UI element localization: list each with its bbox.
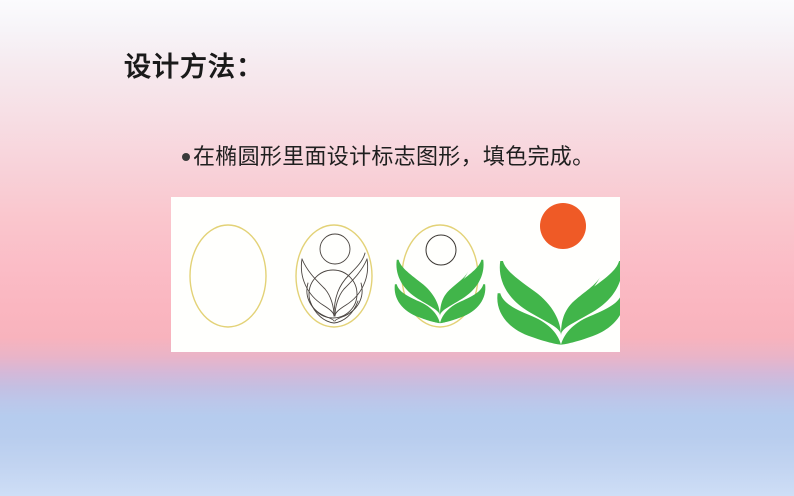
step2-construction-lines	[301, 234, 367, 323]
step1-ellipse-outline	[190, 225, 266, 327]
step3-green-mark	[395, 260, 486, 323]
step4-sun-circle	[540, 203, 586, 249]
illustration-stage	[171, 197, 620, 352]
bullet-dot-icon	[182, 153, 190, 161]
illustration-step-1	[190, 225, 266, 327]
step4-green-mark	[497, 261, 620, 345]
bullet-item-label: 在椭圆形里面设计标志图形，填色完成。	[193, 143, 594, 171]
illustration-panel	[171, 197, 620, 352]
bullet-list-item: 在椭圆形里面设计标志图形，填色完成。	[182, 143, 594, 171]
step3-circle-outline	[426, 235, 456, 265]
illustration-step-2	[296, 225, 372, 327]
illustration-step-3	[395, 225, 486, 327]
slide-canvas: 设计方法： 在椭圆形里面设计标志图形，填色完成。	[0, 0, 794, 496]
page-title: 设计方法：	[124, 51, 264, 83]
illustration-step-4	[497, 203, 620, 345]
